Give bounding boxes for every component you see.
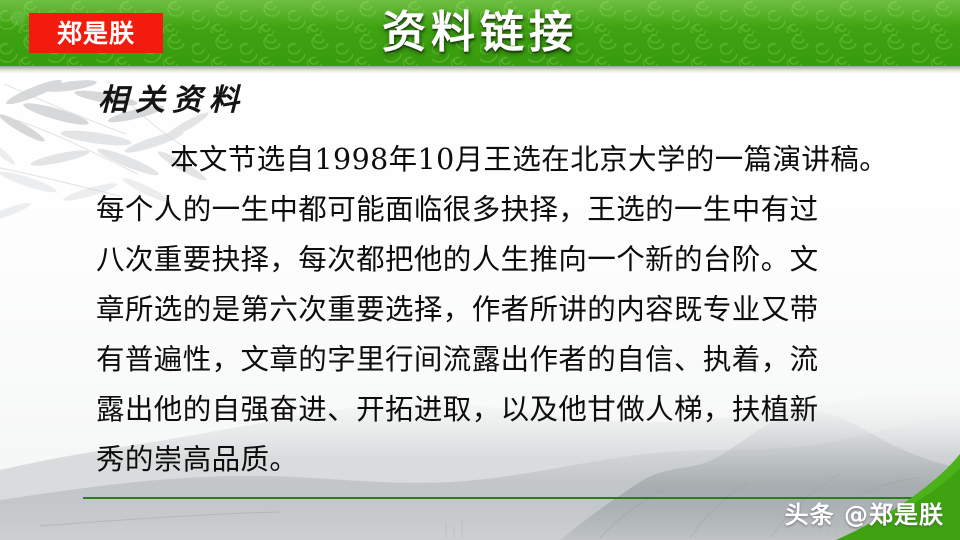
page-title: 资料链接 bbox=[0, 5, 960, 61]
header-silver-strip bbox=[0, 66, 960, 73]
body-line: 八次重要抉择，每次都把他的人生推向一个新的台阶。文 bbox=[96, 235, 886, 285]
body-line: 章所选的是第六次重要选择，作者所讲的内容既专业又带 bbox=[96, 285, 886, 335]
body-line: 有普遍性，文章的字里行间流露出作者的自信、执着，流 bbox=[96, 335, 886, 385]
section-heading: 相关资料 bbox=[98, 82, 246, 120]
body-line: 本文节选自1998年10月王选在北京大学的一篇演讲稿。 bbox=[96, 135, 886, 185]
body-paragraph: 本文节选自1998年10月王选在北京大学的一篇演讲稿。 每个人的一生中都可能面临… bbox=[96, 135, 886, 485]
watermark-text: 头条 @郑是朕 bbox=[785, 500, 944, 530]
slide-canvas: 郑是朕 资料链接 相关资料 本文节选自1998年10月王选在北京大学的一篇演讲稿… bbox=[0, 0, 960, 540]
body-line: 露出他的自强奋进、开拓进取，以及他甘做人梯，扶植新 bbox=[96, 385, 886, 435]
body-line: 每个人的一生中都可能面临很多抉择，王选的一生中有过 bbox=[96, 185, 886, 235]
